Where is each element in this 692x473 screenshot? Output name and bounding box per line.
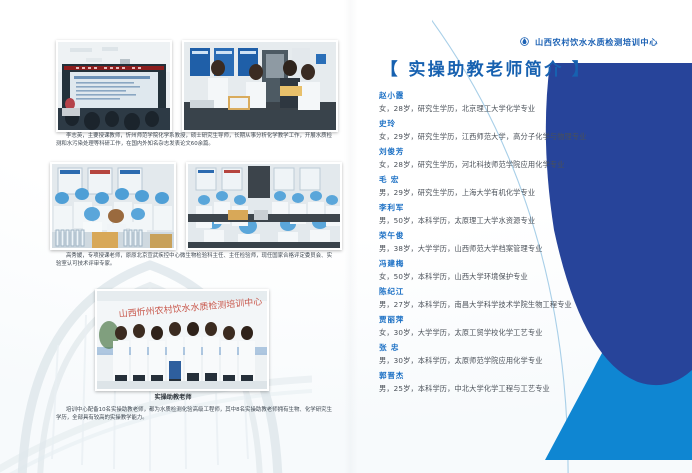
teacher-desc: 男，50岁，本科学历，太原理工大学水资源专业	[379, 214, 647, 227]
caption-li-zhiying: 李志英，主要授课教师，忻州师范学院化学系教授，硕士研究生导师，长期从事分析化学教…	[56, 132, 332, 148]
teacher-desc: 女，30岁，大学学历，太原工贸学校化学工艺专业	[379, 326, 647, 339]
teacher-name: 张 忠	[379, 342, 647, 354]
teacher-name: 李利军	[379, 202, 647, 214]
teacher-name: 刘俊芳	[379, 146, 647, 158]
teacher-name: 陈纪江	[379, 286, 647, 298]
photo-team-group-portrait: 山西忻州农村饮水水质检测培训中心	[95, 289, 269, 391]
teacher-name: 贾丽萍	[379, 314, 647, 326]
teacher-desc: 女，29岁，研究生学历，江西师范大学，高分子化学与物理专业	[379, 130, 647, 143]
brochure-page: 李志英，主要授课教师，忻州师范学院化学系教授，硕士研究生导师，长期从事分析化学教…	[0, 0, 692, 473]
teacher-name: 赵小霞	[379, 90, 647, 102]
caption-gao-xiuyuan: 高秀媛，专项授课老师，原原北京宣武疾控中心微生物检验科主任、主任检验师，现任国家…	[56, 252, 332, 268]
teacher-name: 荣午俊	[379, 230, 647, 242]
photo-lab-group-training	[186, 162, 342, 250]
teacher-name: 毛 宏	[379, 174, 647, 186]
water-drop-logo-icon	[520, 37, 529, 48]
teacher-desc: 男，38岁，大学学历，山西师范大学档案管理专业	[379, 242, 647, 255]
teacher-name: 冯建梅	[379, 258, 647, 270]
photo-caption-label: 实操助教老师	[0, 392, 346, 401]
page-title: 【 实操助教老师简介 】	[346, 55, 626, 80]
brand-header: 山西农村饮水水质检测培训中心	[346, 36, 658, 48]
teacher-desc: 女，28岁，研究生学历，河北科技师范学院应用化学专业	[379, 158, 647, 171]
photo-lab-staff-discussion	[182, 40, 338, 132]
left-column: 李志英，主要授课教师，忻州师范学院化学系教授，硕士研究生导师，长期从事分析化学教…	[0, 0, 346, 473]
photo-trainees-test-tubes	[50, 162, 176, 250]
right-column: 山西农村饮水水质检测培训中心 【 实操助教老师简介 】 赵小霞 女，28岁，研究…	[346, 0, 692, 473]
teacher-desc: 男，30岁，本科学历，太原师范学院应用化学专业	[379, 354, 647, 367]
teacher-desc: 男，27岁，本科学历，南昌大学科学技术学院生物工程专业	[379, 298, 647, 311]
teacher-name: 郭晋杰	[379, 370, 647, 382]
brand-name: 山西农村饮水水质检测培训中心	[535, 37, 658, 47]
teacher-desc: 女，50岁，本科学历，山西大学环境保护专业	[379, 270, 647, 283]
caption-training-center-staff: 培训中心配备10名实操助教老师，都为水质检测化验高级工程师，其中8名实操助教老师…	[56, 406, 332, 422]
teacher-desc: 男，29岁，研究生学历，上海大学有机化学专业	[379, 186, 647, 199]
teacher-name: 史玲	[379, 118, 647, 130]
photo-classroom-lecture	[56, 40, 172, 132]
teacher-list: 赵小霞 女，28岁，研究生学历，北京理工大学化学专业 史玲 女，29岁，研究生学…	[379, 90, 647, 396]
teacher-desc: 女，28岁，研究生学历，北京理工大学化学专业	[379, 102, 647, 115]
teacher-desc: 男，25岁，本科学历，中北大学化学工程与工艺专业	[379, 382, 647, 395]
